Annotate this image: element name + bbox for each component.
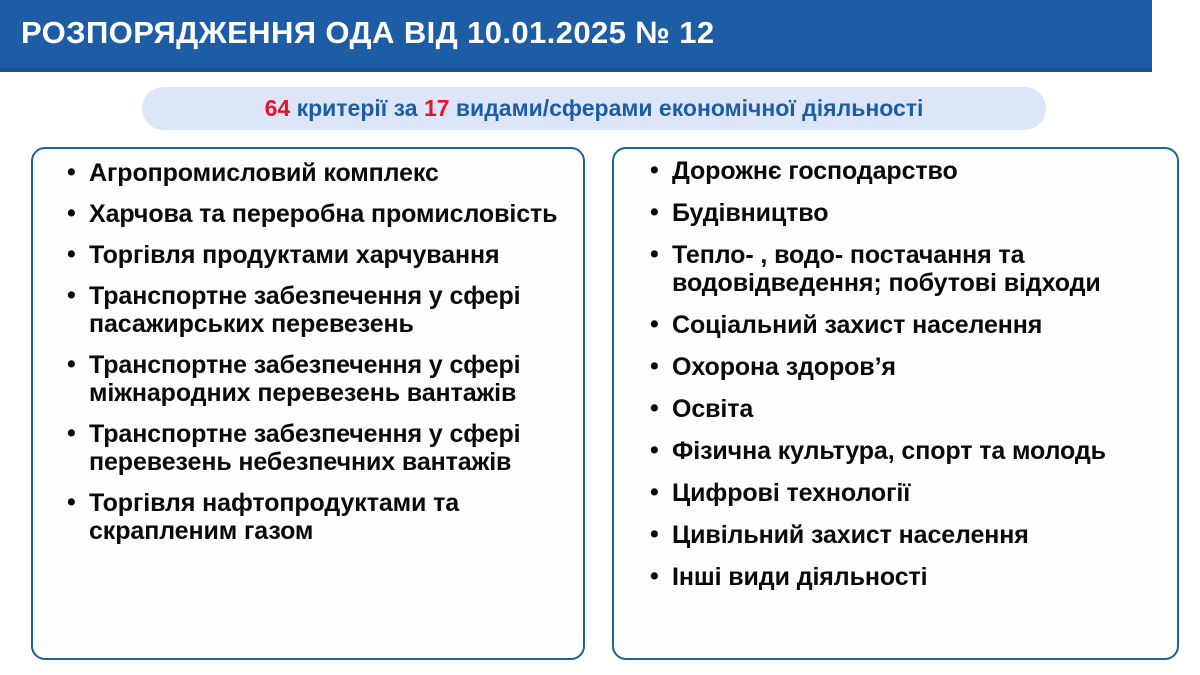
list-item: Будівництво [650,199,1167,227]
subtitle-text: 64 критерії за 17 видами/сферами економі… [265,97,924,120]
list-item: Фізична культура, спорт та молодь [650,437,1167,465]
list-item: Транспортне забезпечення у сфері перевез… [67,420,569,476]
criteria-label: критерії за [297,95,418,121]
left-category-list: Агропромисловий комплекс Харчова та пере… [33,149,583,545]
list-item: Цифрові технології [650,479,1167,507]
criteria-count: 64 [265,95,291,121]
list-item: Харчова та переробна промисловість [67,200,569,228]
list-item: Охорона здоров’я [650,353,1167,381]
list-item: Цивільний захист населення [650,521,1167,549]
list-item: Транспортне забезпечення у сфері пасажир… [67,282,569,338]
list-item: Інші види діяльності [650,563,1167,591]
header-bar: РОЗПОРЯДЖЕННЯ ОДА ВІД 10.01.2025 № 12 [0,0,1152,72]
list-item: Торгівля продуктами харчування [67,241,569,269]
subtitle-pill: 64 критерії за 17 видами/сферами економі… [142,87,1046,130]
list-item: Транспортне забезпечення у сфері міжнаро… [67,351,569,407]
page-title: РОЗПОРЯДЖЕННЯ ОДА ВІД 10.01.2025 № 12 [0,17,715,48]
list-item: Торгівля нафтопродуктами та скрапленим г… [67,489,569,545]
list-item: Освіта [650,395,1167,423]
list-item: Дорожнє господарство [650,157,1167,185]
list-item: Тепло- , водо- постачання та водовідведе… [650,241,1167,297]
spheres-label: видами/сферами економічної діяльності [456,95,924,121]
list-item: Соціальний захист населення [650,311,1167,339]
left-category-card: Агропромисловий комплекс Харчова та пере… [31,147,585,660]
right-category-list: Дорожнє господарство Будівництво Тепло- … [614,149,1177,591]
right-category-card: Дорожнє господарство Будівництво Тепло- … [612,147,1179,660]
list-item: Агропромисловий комплекс [67,159,569,187]
spheres-count: 17 [424,95,450,121]
